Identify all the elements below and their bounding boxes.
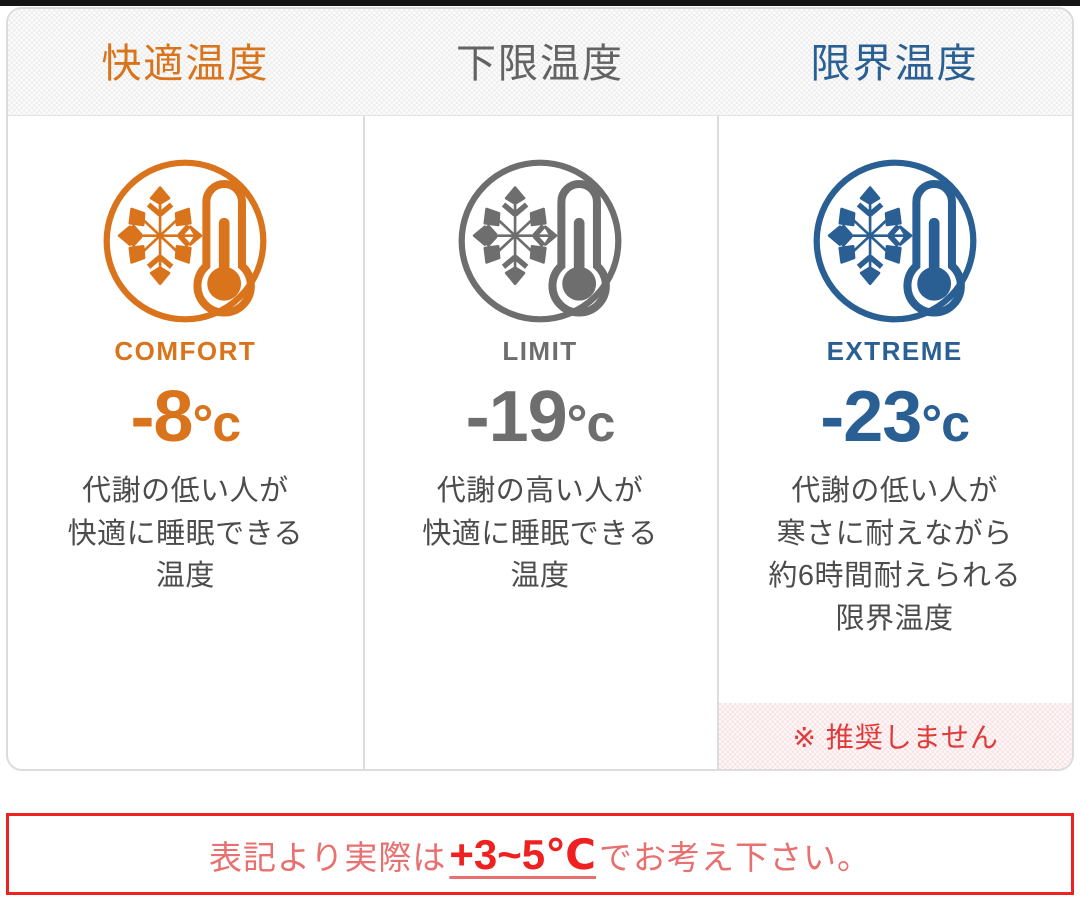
top-edge-strip	[0, 0, 1080, 6]
disclaimer-suffix: でお考え下さい。	[599, 831, 871, 879]
temp-number: -19	[466, 377, 567, 457]
description-extreme: 代謝の低い人が寒さに耐えながら約6時間耐えられる限界温度	[768, 470, 1021, 642]
disclaimer-text: 表記より実際は+3~5℃でお考え下さい。	[209, 830, 871, 879]
snowflake-thermometer-icon	[806, 152, 984, 330]
temperature-rating-page: 快適温度 下限温度 限界温度	[0, 0, 1080, 900]
column-header-extreme: 限界温度	[717, 9, 1072, 115]
rating-card: 快適温度 下限温度 限界温度	[6, 7, 1074, 771]
disclaimer-banner: 表記より実際は+3~5℃でお考え下さい。	[6, 813, 1074, 895]
badge-label-extreme: EXTREME	[827, 338, 963, 364]
not-recommended-badge: ※ 推奨しません	[719, 703, 1072, 769]
temp-number: -23	[820, 377, 921, 457]
badge-label-comfort: COMFORT	[114, 338, 256, 364]
snowflake-thermometer-icon	[96, 152, 274, 330]
card-body-row: COMFORT -8°c 代謝の低い人が快適に睡眠できる温度	[8, 116, 1072, 769]
column-header-comfort: 快適温度	[8, 9, 363, 115]
temp-unit: °c	[567, 395, 615, 453]
temp-unit: °c	[192, 395, 240, 453]
temperature-value-extreme: -23°c	[820, 380, 969, 456]
description-comfort: 代謝の低い人が快適に睡眠できる温度	[68, 470, 303, 599]
column-extreme: EXTREME -23°c 代謝の低い人が寒さに耐えながら約6時間耐えられる限界…	[717, 116, 1072, 769]
column-limit: LIMIT -19°c 代謝の高い人が快適に睡眠できる温度	[363, 116, 718, 769]
temp-number: -8	[130, 377, 192, 457]
disclaimer-highlight: +3~5℃	[446, 830, 599, 879]
card-header-row: 快適温度 下限温度 限界温度	[8, 9, 1072, 116]
disclaimer-prefix: 表記より実際は	[209, 831, 446, 879]
description-limit: 代謝の高い人が快適に睡眠できる温度	[422, 470, 657, 599]
temperature-value-comfort: -8°c	[130, 380, 240, 456]
badge-label-limit: LIMIT	[502, 338, 577, 364]
temperature-value-limit: -19°c	[466, 380, 615, 456]
column-comfort: COMFORT -8°c 代謝の低い人が快適に睡眠できる温度	[8, 116, 363, 769]
temp-unit: °c	[921, 395, 969, 453]
snowflake-thermometer-icon	[451, 152, 629, 330]
column-header-limit: 下限温度	[363, 9, 718, 115]
